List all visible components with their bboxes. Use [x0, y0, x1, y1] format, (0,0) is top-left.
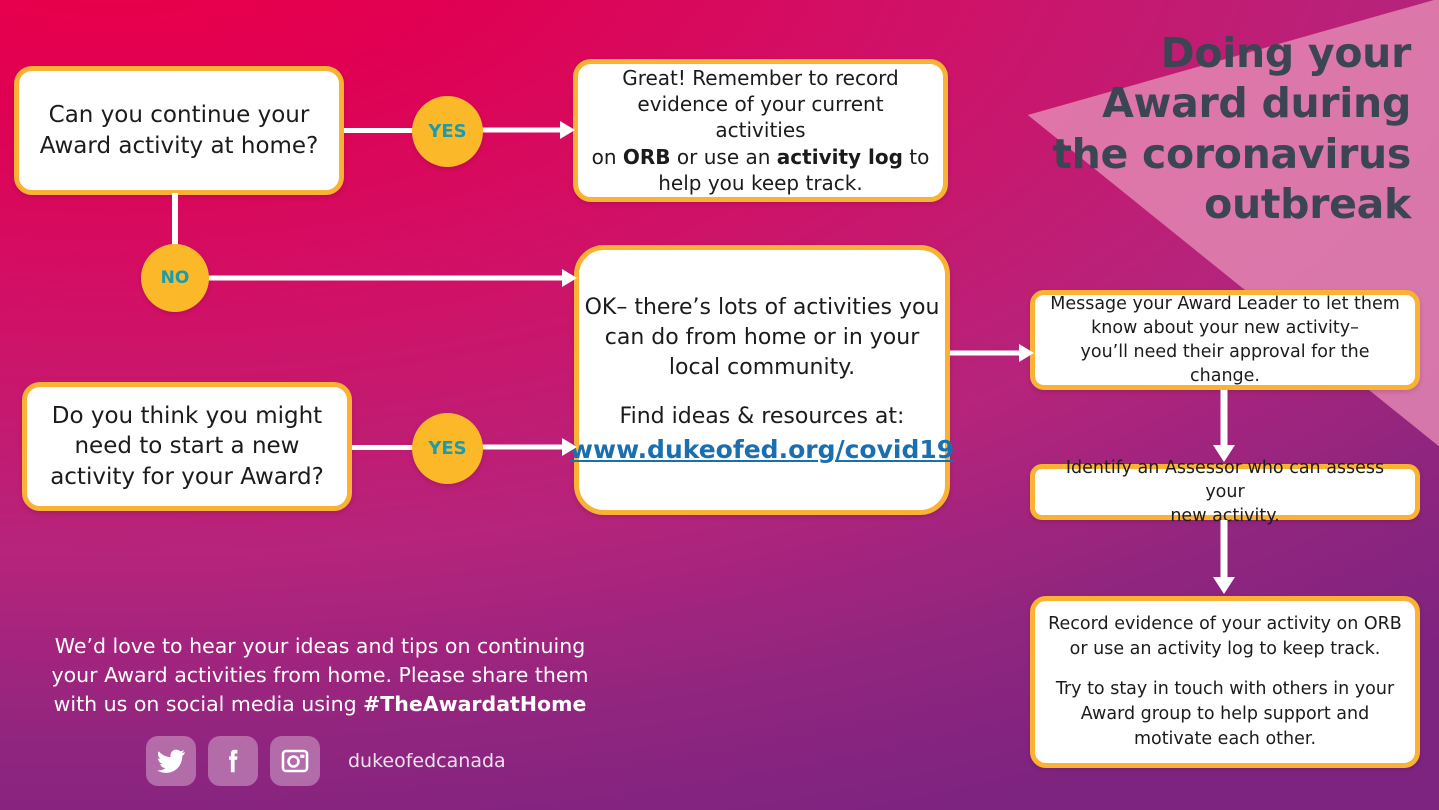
covid19-resources-link[interactable]: www.dukeofed.org/covid19 — [570, 435, 954, 464]
answer-yes1-line-3: on ORB or use an activity log to — [592, 145, 930, 169]
decision-yes-1[interactable]: YES — [412, 96, 483, 167]
arrow-yes1-to-answer — [479, 120, 575, 140]
step3a-line-2: or use an activity log to keep track. — [1070, 639, 1381, 659]
footer-line-1: We’d love to hear your ideas and tips on… — [55, 634, 585, 658]
orb-term: ORB — [623, 145, 671, 169]
social-handle: dukeofedcanada — [348, 750, 506, 772]
step-box-message-award-leader: Message your Award Leader to let them kn… — [1030, 290, 1420, 390]
facebook-icon[interactable] — [208, 736, 258, 786]
page-title-line-2: Award during — [1011, 78, 1411, 128]
step-box-identify-assessor: Identify an Assessor who can assess your… — [1030, 464, 1420, 520]
question-2-line-3: activity for your Award? — [50, 464, 324, 490]
arrow-no-to-middle — [205, 268, 577, 288]
step1-line-2: know about your new activity– — [1091, 318, 1359, 338]
social-media-links: dukeofedcanada — [146, 736, 506, 786]
arrow-yes2-to-middle — [479, 437, 577, 457]
footer-message: We’d love to hear your ideas and tips on… — [30, 632, 610, 719]
infographic-canvas: Doing your Award during the coronavirus … — [0, 0, 1439, 810]
page-title-line-4: outbreak — [1011, 179, 1411, 229]
middle-line-2: can do from home or in your — [605, 325, 920, 350]
middle-answer-box: OK– there’s lots of activities you can d… — [574, 245, 950, 515]
page-title: Doing your Award during the coronavirus … — [1011, 28, 1411, 230]
question-1-line-2: Award activity at home? — [40, 133, 319, 159]
footer-line-2: your Award activities from home. Please … — [51, 663, 588, 687]
step3b-line-3: motivate each other. — [1134, 729, 1316, 749]
step1-line-1: Message your Award Leader to let them — [1050, 294, 1400, 314]
arrow-step2-to-step3 — [1212, 520, 1236, 594]
answer-yes1-line-1: Great! Remember to record — [622, 66, 899, 90]
instagram-icon[interactable] — [270, 736, 320, 786]
connector-q1-to-yes1 — [344, 128, 416, 133]
page-title-line-3: the coronavirus — [1011, 129, 1411, 179]
footer-line-3: with us on social media using — [54, 692, 363, 716]
connector-q1-to-no — [172, 193, 178, 251]
step2-line-1: Identify an Assessor who can assess your — [1066, 458, 1384, 502]
step3-spacer — [1048, 662, 1402, 677]
question-2-line-1: Do you think you might — [52, 403, 322, 429]
step-box-record-evidence: Record evidence of your activity on ORB … — [1030, 596, 1420, 768]
question-box-2: Do you think you might need to start a n… — [22, 382, 352, 511]
question-1-line-1: Can you continue your — [49, 102, 310, 128]
connector-q2-to-yes2 — [352, 445, 416, 450]
question-2-line-2: need to start a new — [74, 433, 299, 459]
step3b-line-2: Award group to help support and — [1081, 704, 1369, 724]
middle-spacer — [570, 384, 954, 403]
campaign-hashtag: #TheAwardatHome — [363, 692, 586, 716]
twitter-icon[interactable] — [146, 736, 196, 786]
question-box-1: Can you continue your Award activity at … — [14, 66, 344, 195]
step1-line-3: you’ll need their approval for the chang… — [1081, 342, 1370, 386]
answer-box-yes-1: Great! Remember to record evidence of yo… — [573, 59, 948, 202]
step3a-line-1: Record evidence of your activity on ORB — [1048, 614, 1402, 634]
page-title-line-1: Doing your — [1011, 28, 1411, 78]
step3b-line-1: Try to stay in touch with others in your — [1056, 679, 1394, 699]
middle-line-3: local community. — [669, 355, 855, 380]
arrow-middle-to-step1 — [950, 343, 1034, 363]
answer-yes1-line-4: help you keep track. — [658, 171, 862, 195]
decision-no[interactable]: NO — [141, 244, 209, 312]
arrow-step1-to-step2 — [1212, 390, 1236, 462]
decision-yes-2[interactable]: YES — [412, 413, 483, 484]
answer-yes1-line-2: evidence of your current activities — [637, 92, 883, 142]
middle-cta: Find ideas & resources at: — [620, 404, 905, 429]
middle-line-1: OK– there’s lots of activities you — [585, 295, 940, 320]
activity-log-term: activity log — [777, 145, 903, 169]
